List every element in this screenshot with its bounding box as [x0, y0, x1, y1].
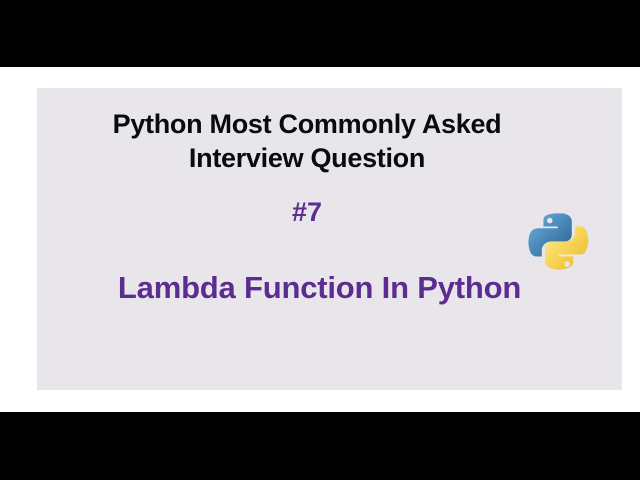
python-logo-svg [524, 210, 592, 272]
slide-headline: Python Most Commonly Asked Interview Que… [37, 107, 577, 175]
python-logo-icon [524, 210, 592, 272]
video-frame: Python Most Commonly Asked Interview Que… [0, 0, 640, 480]
topic-title: Lambda Function In Python [37, 269, 602, 307]
letterbox-bar-bottom [0, 412, 640, 480]
slide-content-panel: Python Most Commonly Asked Interview Que… [37, 88, 622, 390]
slide-stage: Python Most Commonly Asked Interview Que… [0, 67, 640, 412]
headline-line-1: Python Most Commonly Asked [37, 107, 577, 141]
headline-line-2: Interview Question [37, 141, 577, 175]
letterbox-bar-top [0, 0, 640, 67]
question-number: #7 [37, 196, 577, 228]
